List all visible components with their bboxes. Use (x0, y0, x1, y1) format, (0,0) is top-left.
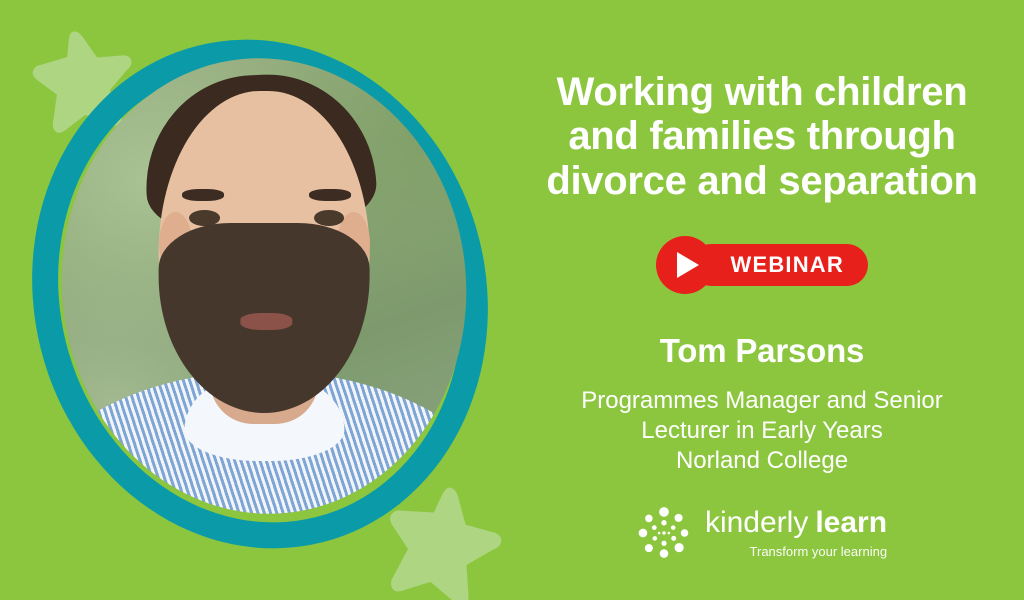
logo-word-kinderly: kinderly (705, 508, 808, 538)
speaker-portrait (16, 16, 496, 568)
webinar-badge-label: WEBINAR (730, 252, 844, 278)
title-line-2: and families through (506, 114, 1018, 158)
speaker-role: Programmes Manager and Senior Lecturer i… (581, 386, 943, 476)
kinderly-learn-logo: kinderly learn Transform your learning (637, 506, 887, 560)
portrait-photo (39, 38, 488, 534)
portrait-eye-left (189, 209, 219, 225)
logo-text: kinderly learn Transform your learning (705, 508, 887, 559)
content-column: Working with children and families throu… (500, 0, 1024, 600)
speaker-role-line-2: Lecturer in Early Years (581, 416, 943, 446)
play-triangle-icon (677, 252, 699, 278)
webinar-promo-slide: Working with children and families throu… (0, 0, 1024, 600)
logo-wordmark: kinderly learn (705, 508, 887, 538)
logo-word-learn: learn (815, 508, 887, 538)
logo-tagline: Transform your learning (705, 544, 887, 559)
speaker-name: Tom Parsons (660, 332, 864, 370)
webinar-badge-pill: WEBINAR (690, 244, 868, 286)
portrait-brow-right (309, 188, 351, 201)
page-title: Working with children and families throu… (500, 70, 1024, 203)
speaker-role-line-3: Norland College (581, 446, 943, 476)
speaker-role-line-1: Programmes Manager and Senior (581, 386, 943, 416)
title-line-1: Working with children (506, 70, 1018, 114)
portrait-mouth (240, 312, 292, 329)
portrait-image (39, 38, 488, 534)
webinar-badge[interactable]: WEBINAR (656, 236, 868, 294)
portrait-eye-right (313, 209, 343, 225)
title-line-3: divorce and separation (506, 159, 1018, 203)
portrait-brow-left (182, 188, 224, 201)
kinderly-dots-icon (637, 506, 691, 560)
play-button[interactable] (656, 236, 714, 294)
